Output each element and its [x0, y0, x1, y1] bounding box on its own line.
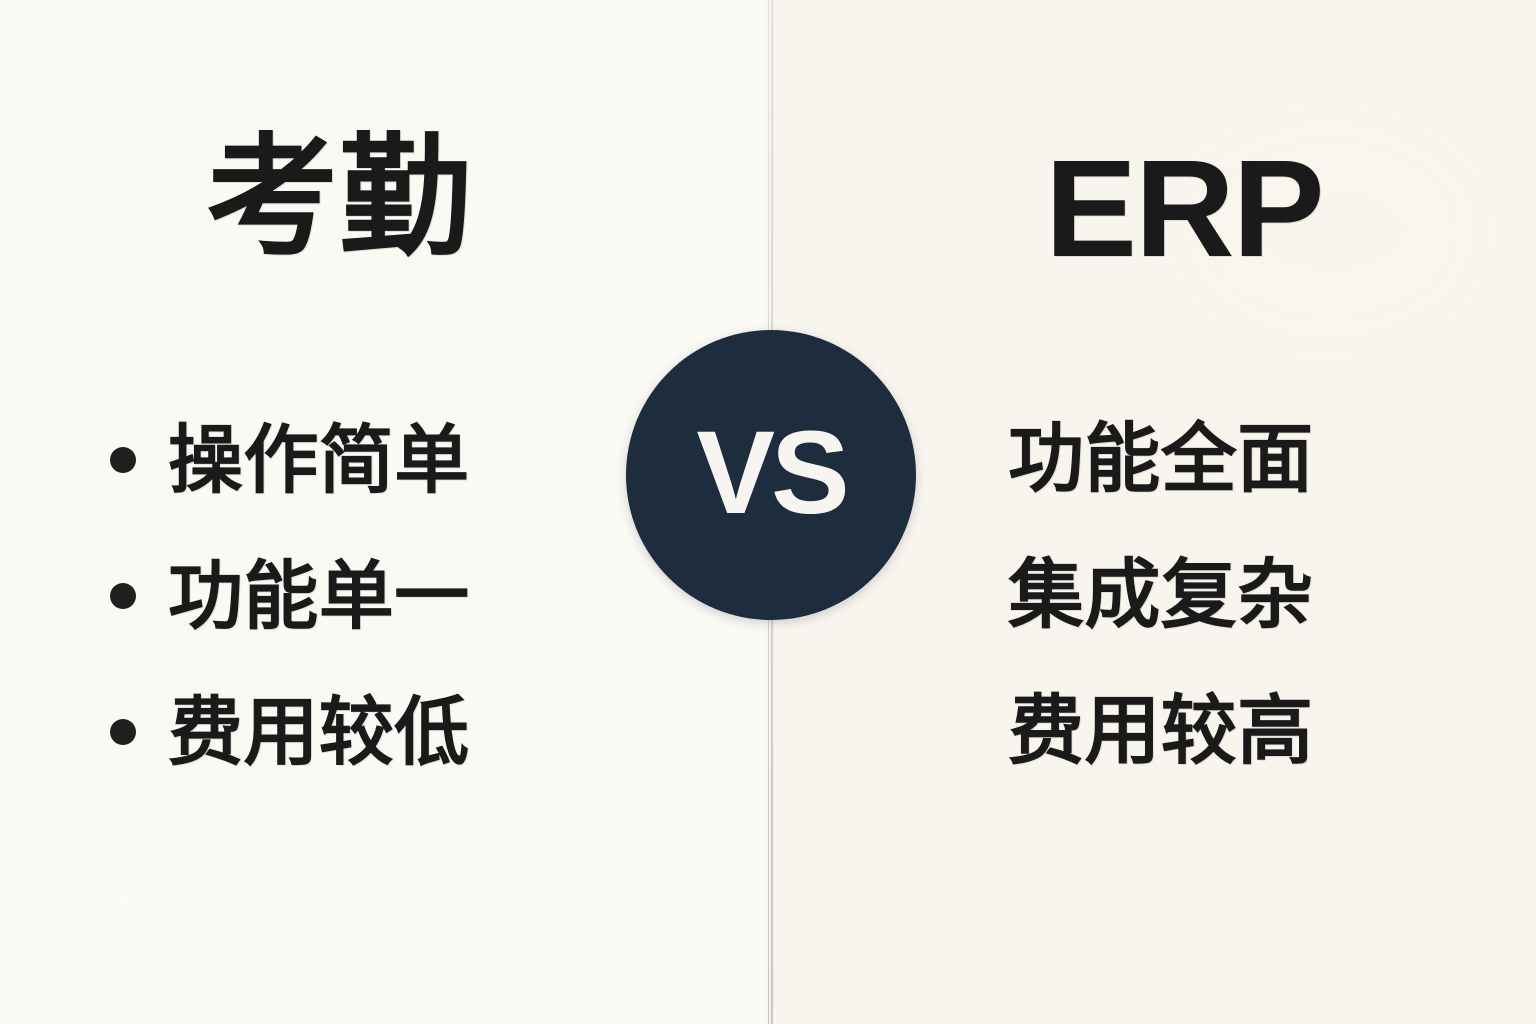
list-item: 集成复杂: [1008, 528, 1528, 664]
feature-label: 集成复杂: [1008, 558, 1314, 634]
list-item: 功能全面: [1008, 392, 1528, 528]
versus-label: VS: [696, 414, 845, 532]
bullet-point-icon: [110, 719, 136, 745]
comparison-graphic: 考勤 操作简单 功能单一 费用较低 ERP 功能全面 集成复杂: [0, 0, 1536, 1024]
list-item: 费用较低: [110, 664, 730, 800]
bullet-point-icon: [110, 447, 136, 473]
feature-label: 功能单一: [168, 559, 470, 634]
bullet-point-icon: [110, 583, 136, 609]
feature-label: 费用较低: [168, 695, 470, 770]
right-column-title: ERP: [1045, 140, 1323, 278]
right-feature-list: 功能全面 集成复杂 费用较高: [1008, 392, 1528, 800]
versus-badge: VS: [626, 330, 916, 620]
feature-label: 功能全面: [1008, 422, 1314, 498]
list-item: 费用较高: [1008, 664, 1528, 800]
feature-label: 费用较高: [1008, 694, 1314, 770]
feature-label: 操作简单: [168, 423, 470, 498]
list-item: 功能单一: [110, 528, 730, 664]
left-column-title: 考勤: [206, 132, 473, 264]
